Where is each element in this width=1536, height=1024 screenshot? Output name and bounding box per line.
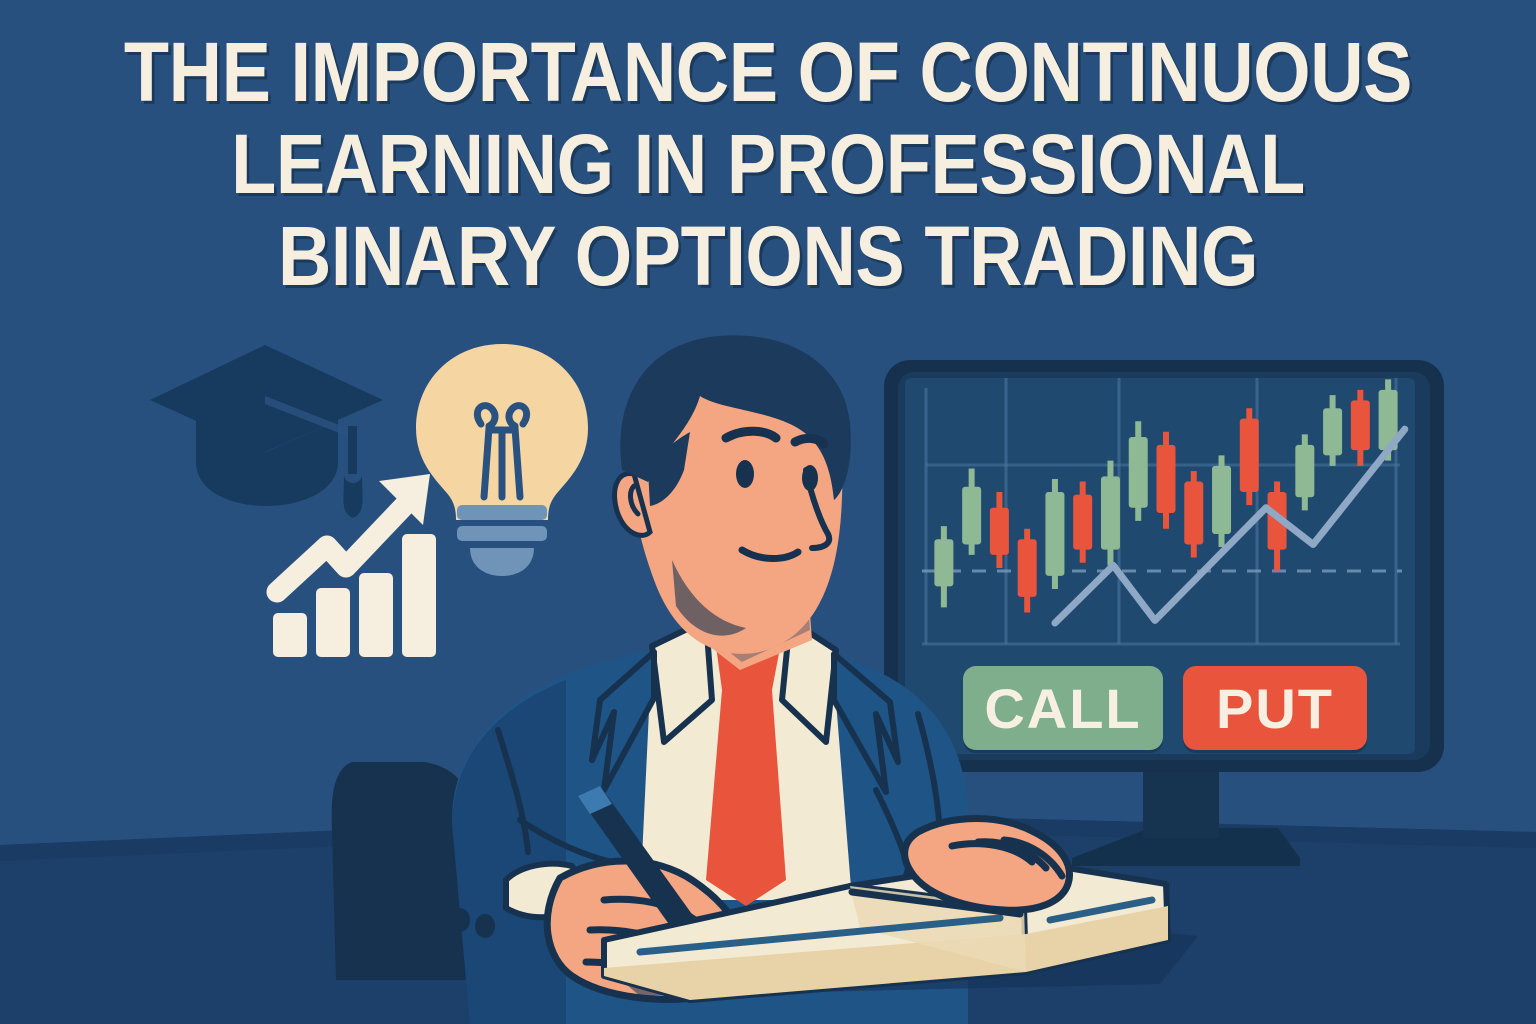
candle-body (1101, 476, 1120, 549)
candle-body (1240, 419, 1259, 492)
candle-body (1323, 408, 1342, 455)
candle-body (1045, 492, 1064, 576)
candle-body (934, 539, 953, 586)
suit-button-2 (475, 914, 495, 938)
candle-body (1184, 482, 1203, 545)
eye-left (736, 460, 754, 488)
candle-body (1212, 466, 1231, 534)
candle-body (990, 508, 1009, 555)
scene-illustration (0, 0, 1536, 1024)
monitor-stand-neck (1143, 768, 1219, 838)
candle-body (1129, 437, 1148, 508)
candle-body (1295, 445, 1314, 497)
candle-body (1018, 539, 1037, 597)
poster-canvas: THE IMPORTANCE OF CONTINUOUS LEARNING IN… (0, 0, 1536, 1024)
candle-body (1351, 400, 1370, 450)
candle-body (1073, 495, 1092, 550)
suit-button-1 (450, 908, 470, 932)
candle-body (1157, 445, 1176, 513)
candle-body (962, 487, 981, 545)
chair-back (332, 762, 470, 980)
put-button[interactable]: PUT (1183, 666, 1367, 750)
call-button[interactable]: CALL (963, 666, 1163, 750)
